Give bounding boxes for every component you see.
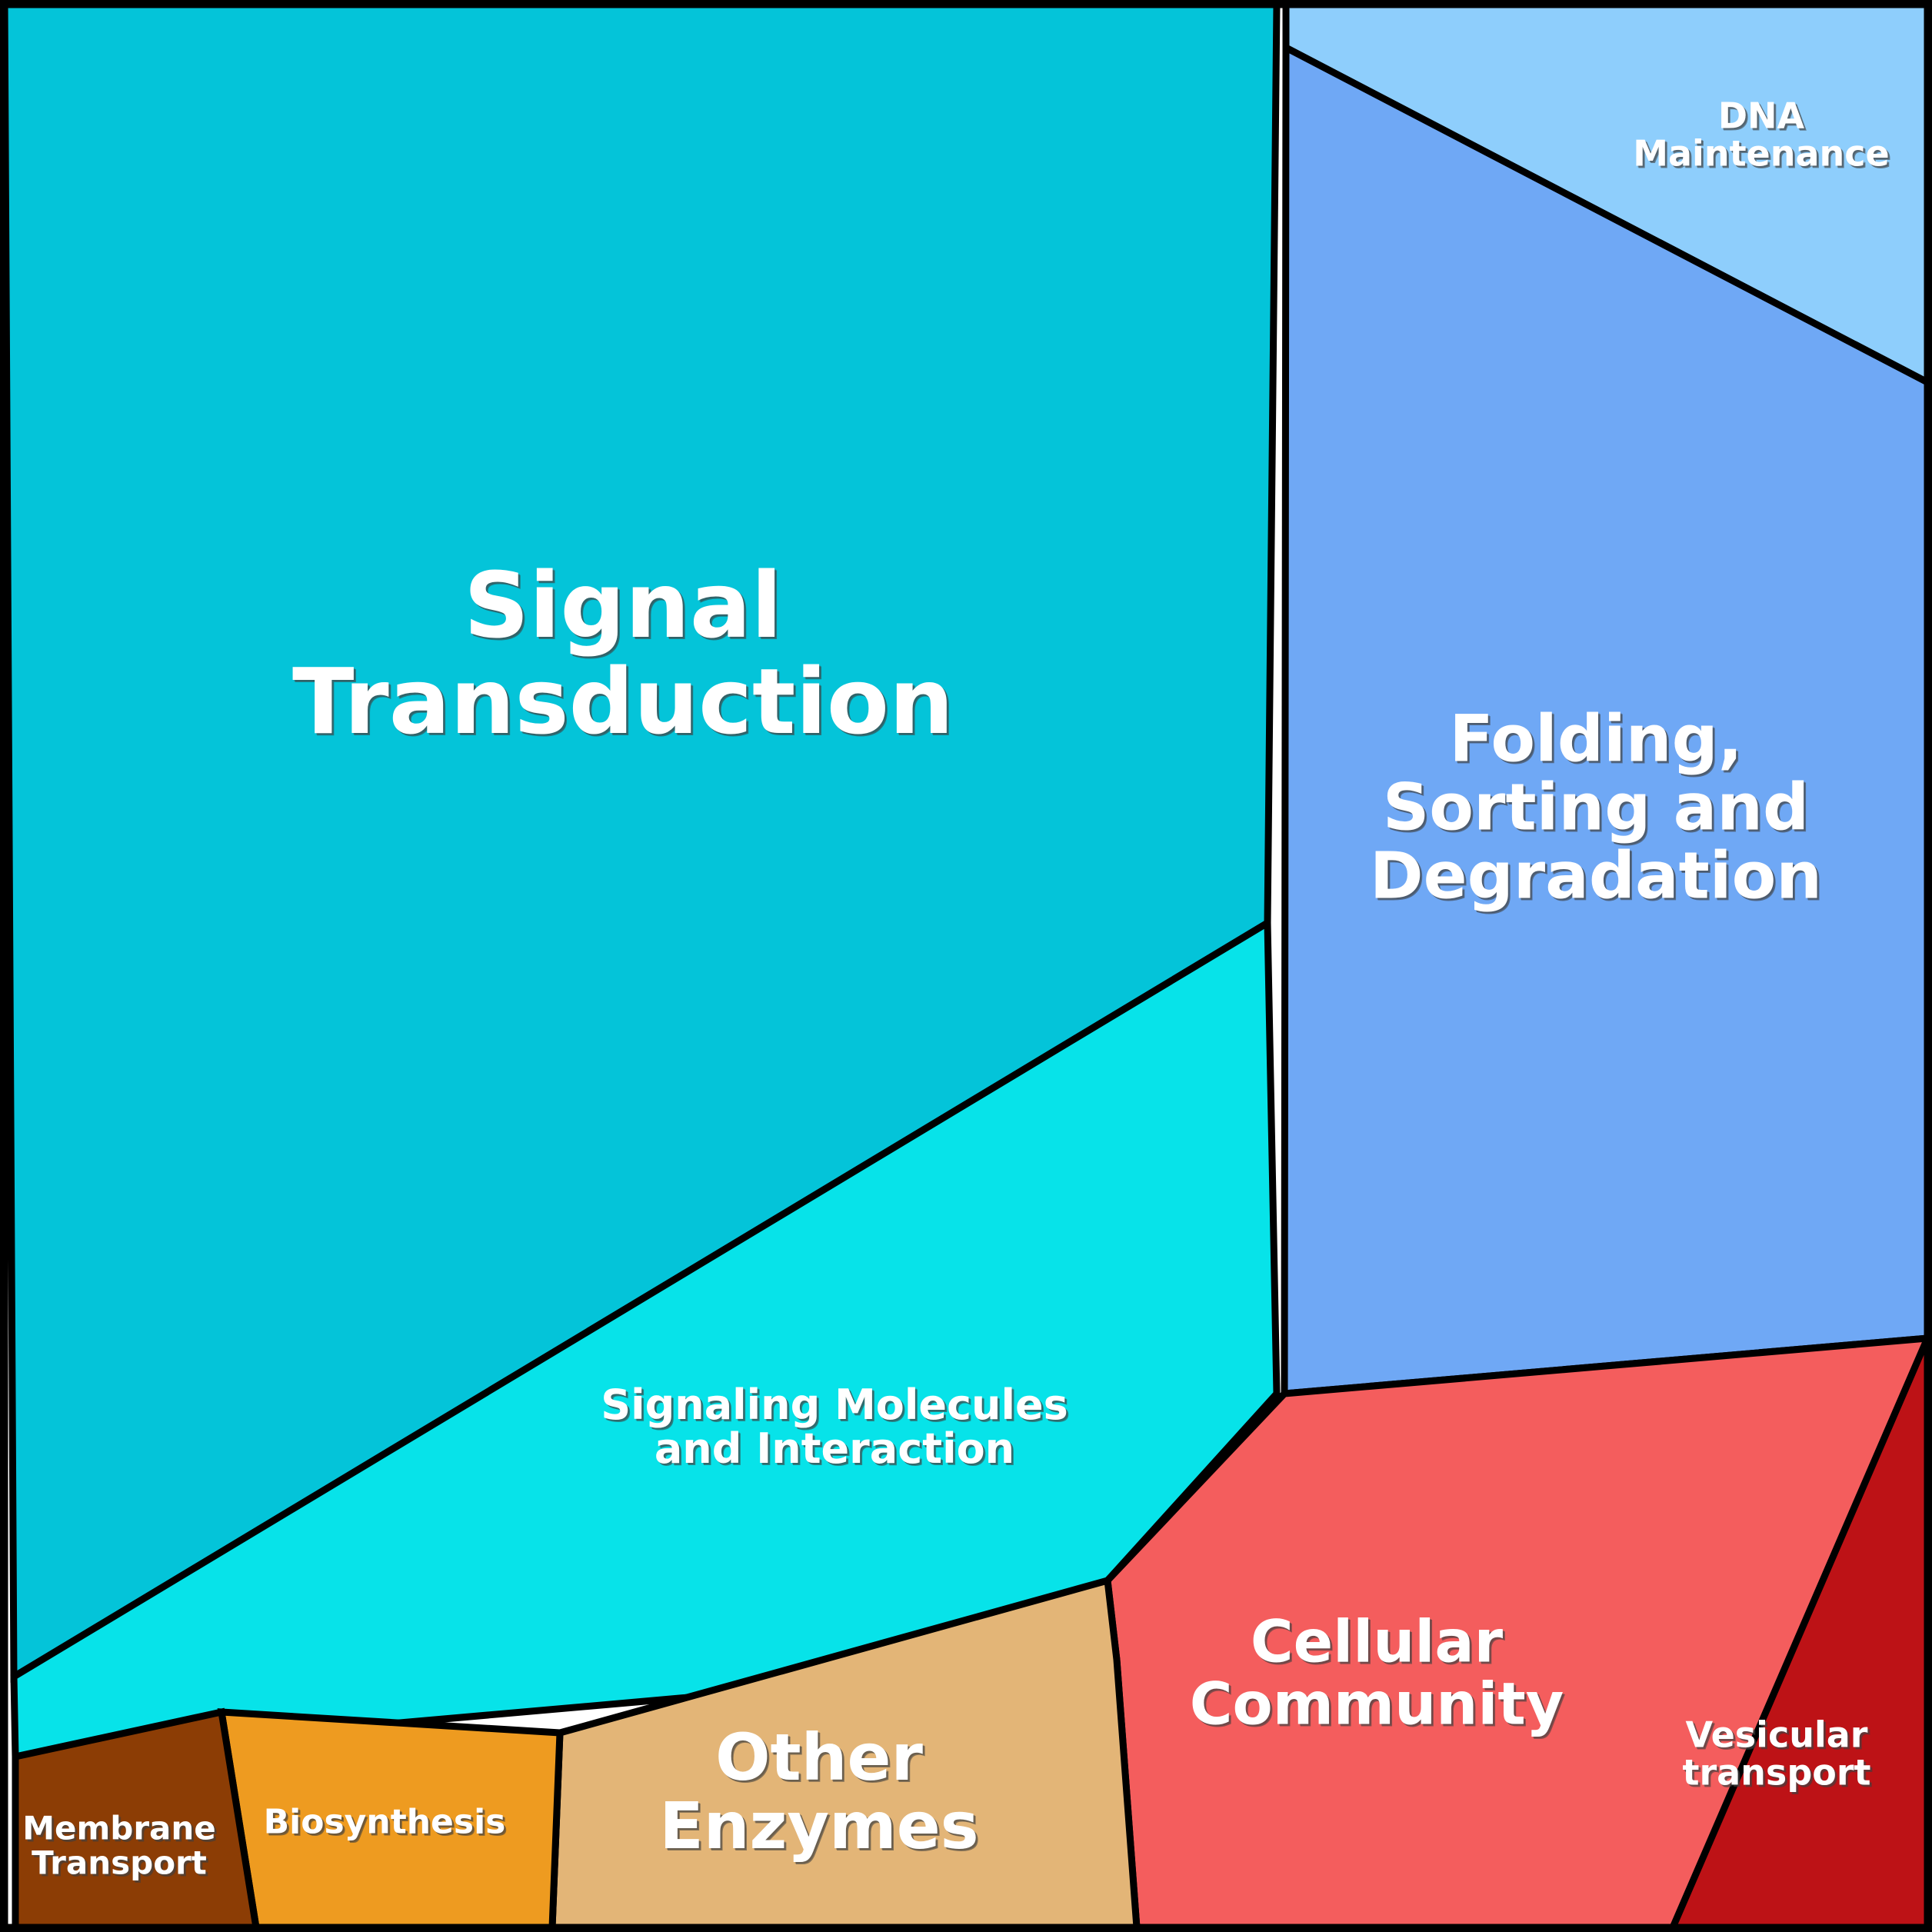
treemap-canvas	[0, 0, 1932, 1932]
treemap-cells-group	[5, 5, 1927, 1927]
treemap-cell-biosynthesis[interactable]	[222, 1712, 560, 1927]
voronoi-treemap-figure: Signal TransductionDNA MaintenanceFoldin…	[0, 0, 1932, 1932]
